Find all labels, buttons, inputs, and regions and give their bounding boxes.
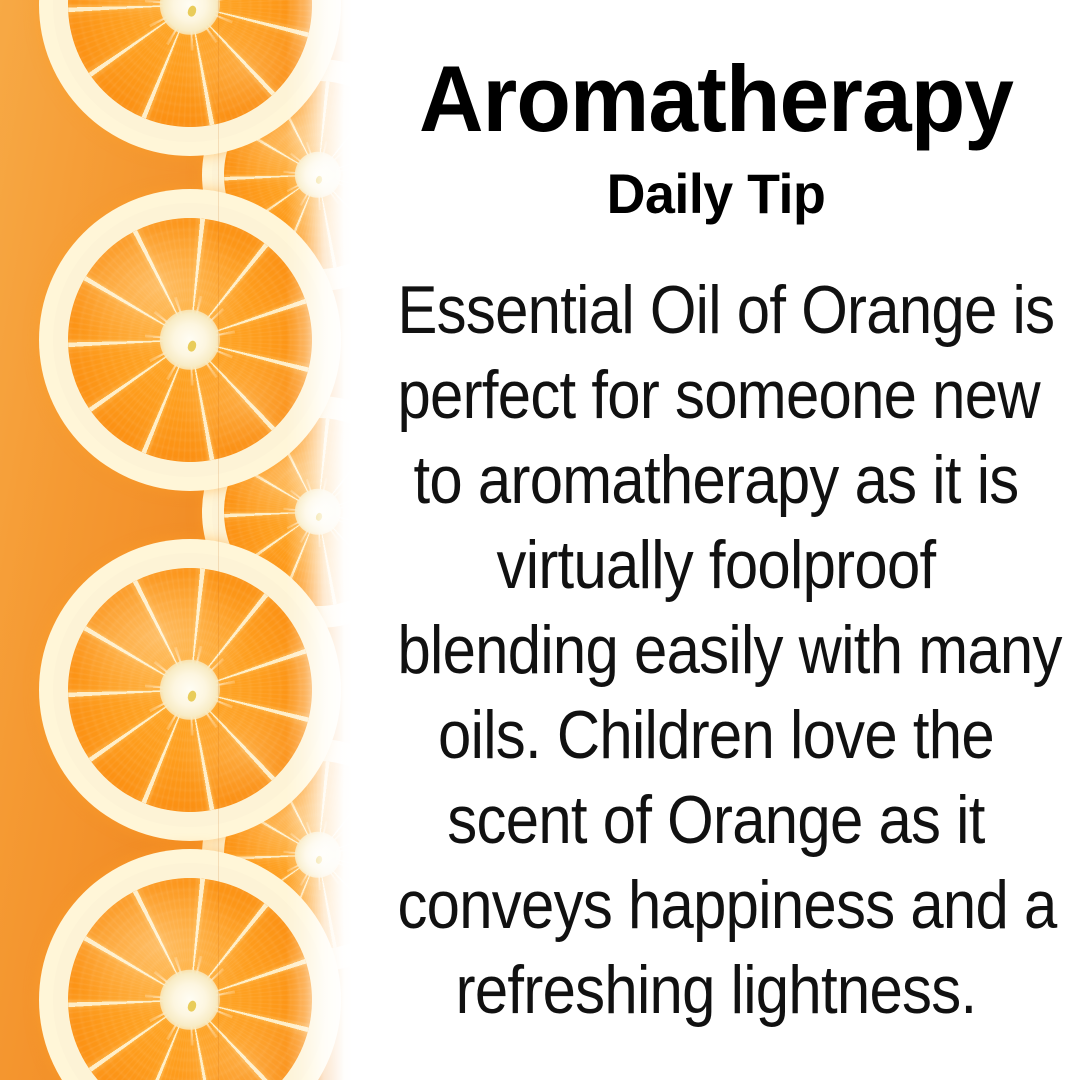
page-title: Aromatherapy: [370, 52, 1062, 146]
body-line: perfect for someone new: [397, 353, 1034, 438]
tip-body-text: Essential Oil of Orange is perfect for s…: [354, 268, 1078, 1033]
body-line: virtually foolproof: [397, 523, 1034, 608]
body-line: refreshing lightness.: [397, 948, 1034, 1033]
social-post-canvas: Aromatherapy Daily Tip Essential Oil of …: [0, 0, 1080, 1080]
orange-slice-2: [39, 189, 341, 491]
body-line: scent of Orange as it: [397, 778, 1034, 863]
body-line: oils. Children love the: [397, 693, 1034, 778]
body-line: Essential Oil of Orange is: [397, 268, 1034, 353]
orange-slice-3: [39, 539, 341, 841]
body-line: conveys happiness and a: [397, 863, 1034, 948]
orange-slices-image-strip: [0, 0, 352, 1080]
body-line: blending easily with many: [397, 608, 1034, 693]
text-content-column: Aromatherapy Daily Tip Essential Oil of …: [352, 0, 1080, 1080]
page-subtitle: Daily Tip: [367, 166, 1066, 222]
body-line: to aromatherapy as it is: [397, 438, 1034, 523]
